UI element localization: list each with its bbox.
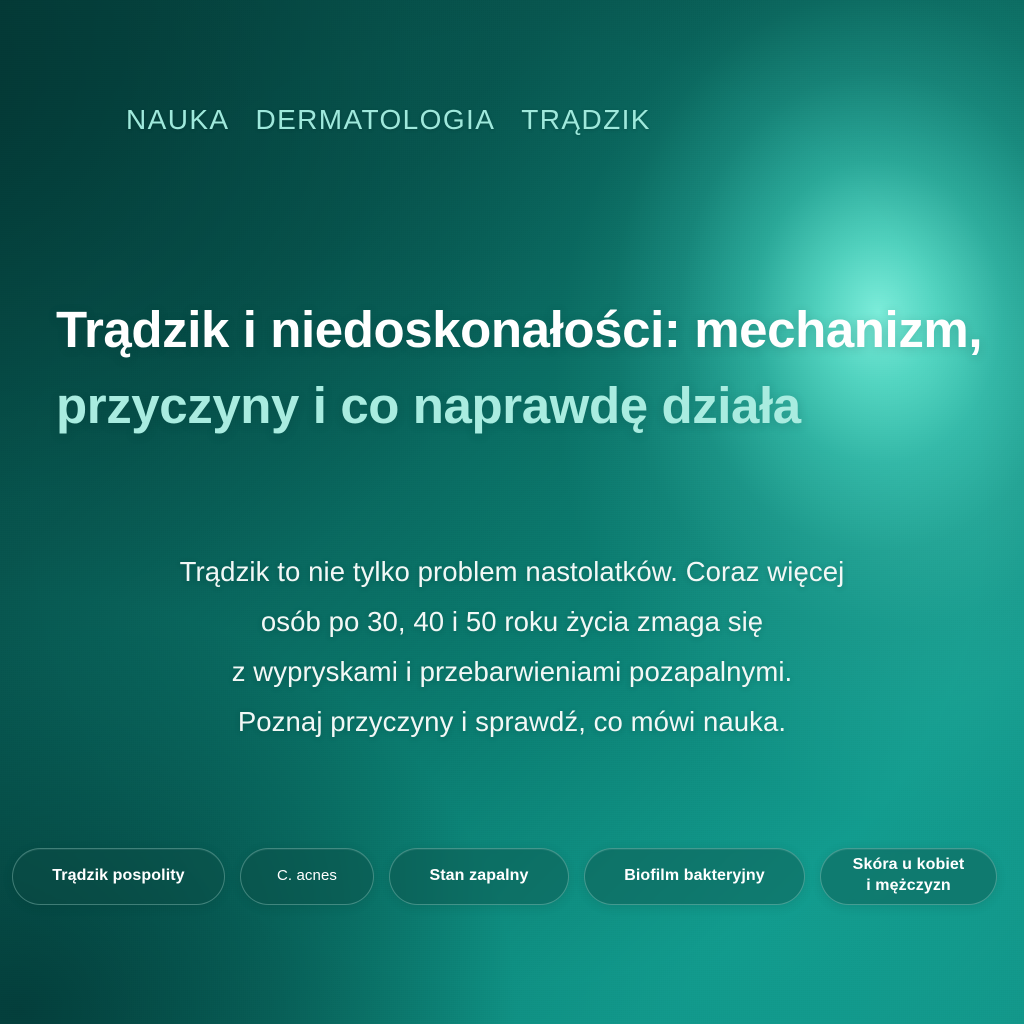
hero-card: NAUKA DERMATOLOGIA TRĄDZIK Trądzik i nie… <box>0 0 1024 1024</box>
page-subtitle-line-4: Poznaj przyczyny i sprawdź, co mówi nauk… <box>62 697 962 747</box>
page-subtitle-line-3: z wypryskami i przebarwieniami pozapalny… <box>62 647 962 697</box>
page-title-line-2: przyczyny i co naprawdę działa <box>56 368 996 444</box>
tag-chip-c-acnes[interactable]: C. acnes <box>240 848 374 905</box>
breadcrumb-item-tradzik[interactable]: TRĄDZIK <box>521 104 651 136</box>
tag-chip-tradzik-pospolity[interactable]: Trądzik pospolity <box>12 848 225 905</box>
tag-chip-label: Skóra u kobiet <box>853 856 965 873</box>
tag-chip-skora-u-kobiet-i-mezczyzn[interactable]: Skóra u kobiet i mężczyzn <box>820 848 997 905</box>
tag-chip-label: Stan zapalny <box>429 866 528 886</box>
tag-chip-label-second-line: i mężczyzn <box>853 876 965 897</box>
tag-chip-label-wrapper: Skóra u kobiet i mężczyzn <box>853 855 965 897</box>
page-subtitle-line-1: Trądzik to nie tylko problem nastolatków… <box>62 547 962 597</box>
page-subtitle: Trądzik to nie tylko problem nastolatków… <box>62 547 962 747</box>
tag-chip-label: C. acnes <box>277 866 337 885</box>
page-title-line-1: Trądzik i niedoskonałości: mechanizm, <box>56 292 996 368</box>
tag-chip-label: Biofilm bakteryjny <box>624 866 765 886</box>
breadcrumb-item-nauka[interactable]: NAUKA <box>126 104 229 136</box>
tag-chip-biofilm-bakteryjny[interactable]: Biofilm bakteryjny <box>584 848 805 905</box>
page-subtitle-line-2: osób po 30, 40 i 50 roku życia zmaga się <box>62 597 962 647</box>
tag-chip-list: Trądzik pospolity C. acnes Stan zapalny … <box>12 847 1012 905</box>
tag-chip-stan-zapalny[interactable]: Stan zapalny <box>389 848 569 905</box>
breadcrumb-item-dermatologia[interactable]: DERMATOLOGIA <box>255 104 495 136</box>
hero-content: NAUKA DERMATOLOGIA TRĄDZIK Trądzik i nie… <box>0 0 1024 1024</box>
breadcrumb: NAUKA DERMATOLOGIA TRĄDZIK <box>126 104 651 136</box>
tag-chip-label: Trądzik pospolity <box>52 866 184 886</box>
page-title: Trądzik i niedoskonałości: mechanizm, pr… <box>56 292 996 444</box>
